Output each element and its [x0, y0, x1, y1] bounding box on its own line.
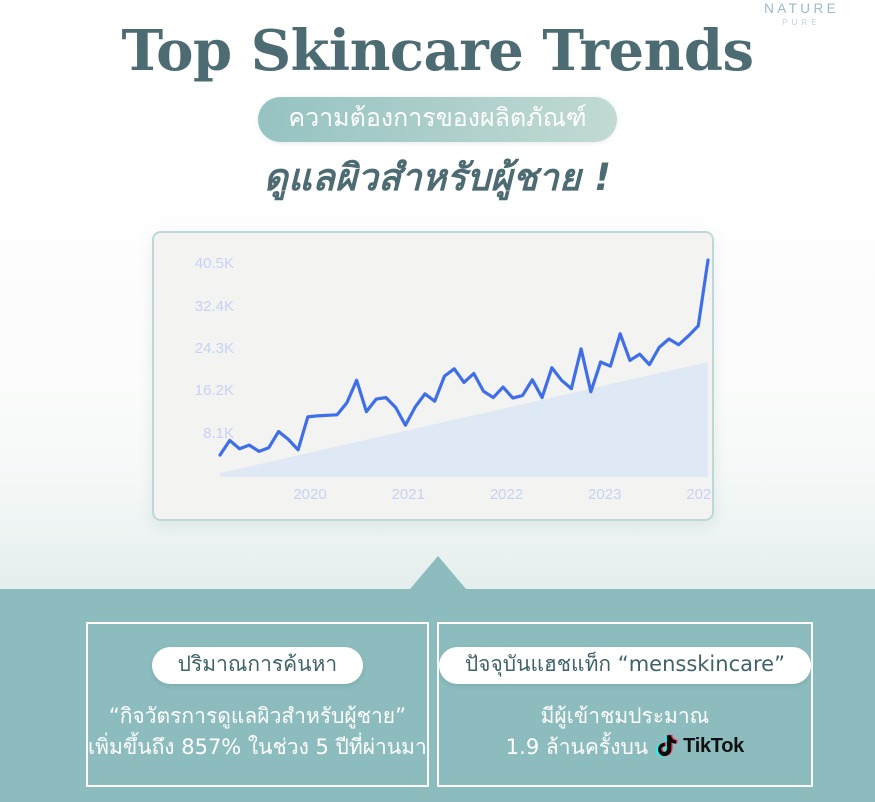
- arrow-down-icon: [410, 556, 466, 589]
- chart-y-tick: 40.5K: [195, 255, 234, 272]
- card-search-volume: ปริมาณการค้นหา “กิจวัตรการดูแลผิวสำหรับผ…: [86, 622, 429, 787]
- chart-plot-area: 40.5K32.4K24.3K16.2K8.1K 202020212022202…: [154, 233, 712, 519]
- card-pill-search-volume: ปริมาณการค้นหา: [152, 647, 364, 684]
- subtitle-pill-wrap: ความต้องการของผลิตภัณฑ์: [0, 97, 875, 142]
- card-line: มีผู้เข้าชมประมาณ: [506, 701, 744, 731]
- stats-cards: ปริมาณการค้นหา “กิจวัตรการดูแลผิวสำหรับผ…: [86, 622, 789, 787]
- chart-x-tick: 2023: [588, 486, 621, 503]
- chart-x-axis: 20202021202220232024: [154, 486, 712, 506]
- chart-x-tick: 2020: [293, 486, 326, 503]
- chart-y-tick: 32.4K: [195, 298, 234, 315]
- card-line: “กิจวัตรการดูแลผิวสำหรับผู้ชาย”: [88, 701, 427, 731]
- chart-x-tick: 2024: [686, 486, 714, 503]
- brand-name: NATURE: [764, 2, 839, 16]
- card-pill-hashtag-views: ปัจจุบันแฮชแท็ก “mensskincare”: [439, 647, 811, 684]
- tiktok-views-text: 1.9 ล้านครั้งบน: [506, 732, 648, 762]
- chart-x-tick: 2022: [490, 486, 523, 503]
- tiktok-wordmark: TikTok: [683, 732, 744, 761]
- tiktok-note-icon: [655, 734, 679, 760]
- card-hashtag-views: ปัจจุบันแฮชแท็ก “mensskincare” มีผู้เข้า…: [437, 622, 813, 787]
- trend-chart: 40.5K32.4K24.3K16.2K8.1K 202020212022202…: [152, 231, 714, 521]
- subheadline: ดูแลผิวสำหรับผู้ชาย !: [0, 148, 875, 207]
- chart-y-tick: 24.3K: [195, 340, 234, 357]
- tiktok-logo: TikTok: [655, 732, 744, 761]
- chart-y-tick: 16.2K: [195, 382, 234, 399]
- card-line: เพิ่มขึ้นถึง 857% ในช่วง 5 ปีที่ผ่านมา: [88, 732, 427, 762]
- page-title: Top Skincare Trends: [0, 18, 875, 84]
- chart-x-tick: 2021: [392, 486, 425, 503]
- chart-y-axis: 40.5K32.4K24.3K16.2K8.1K: [164, 233, 234, 519]
- card-body-hashtag-views: มีผู้เข้าชมประมาณ 1.9 ล้านครั้งบน TikTok: [506, 701, 744, 762]
- chart-line-svg: [154, 233, 712, 519]
- poster-root: NATURE PURE Top Skincare Trends ความต้อง…: [0, 0, 875, 802]
- chart-y-tick: 8.1K: [203, 425, 234, 442]
- card-body-search-volume: “กิจวัตรการดูแลผิวสำหรับผู้ชาย” เพิ่มขึ้…: [88, 701, 427, 762]
- card-line-tiktok: 1.9 ล้านครั้งบน TikTok: [506, 732, 744, 762]
- subtitle-pill: ความต้องการของผลิตภัณฑ์: [258, 97, 616, 142]
